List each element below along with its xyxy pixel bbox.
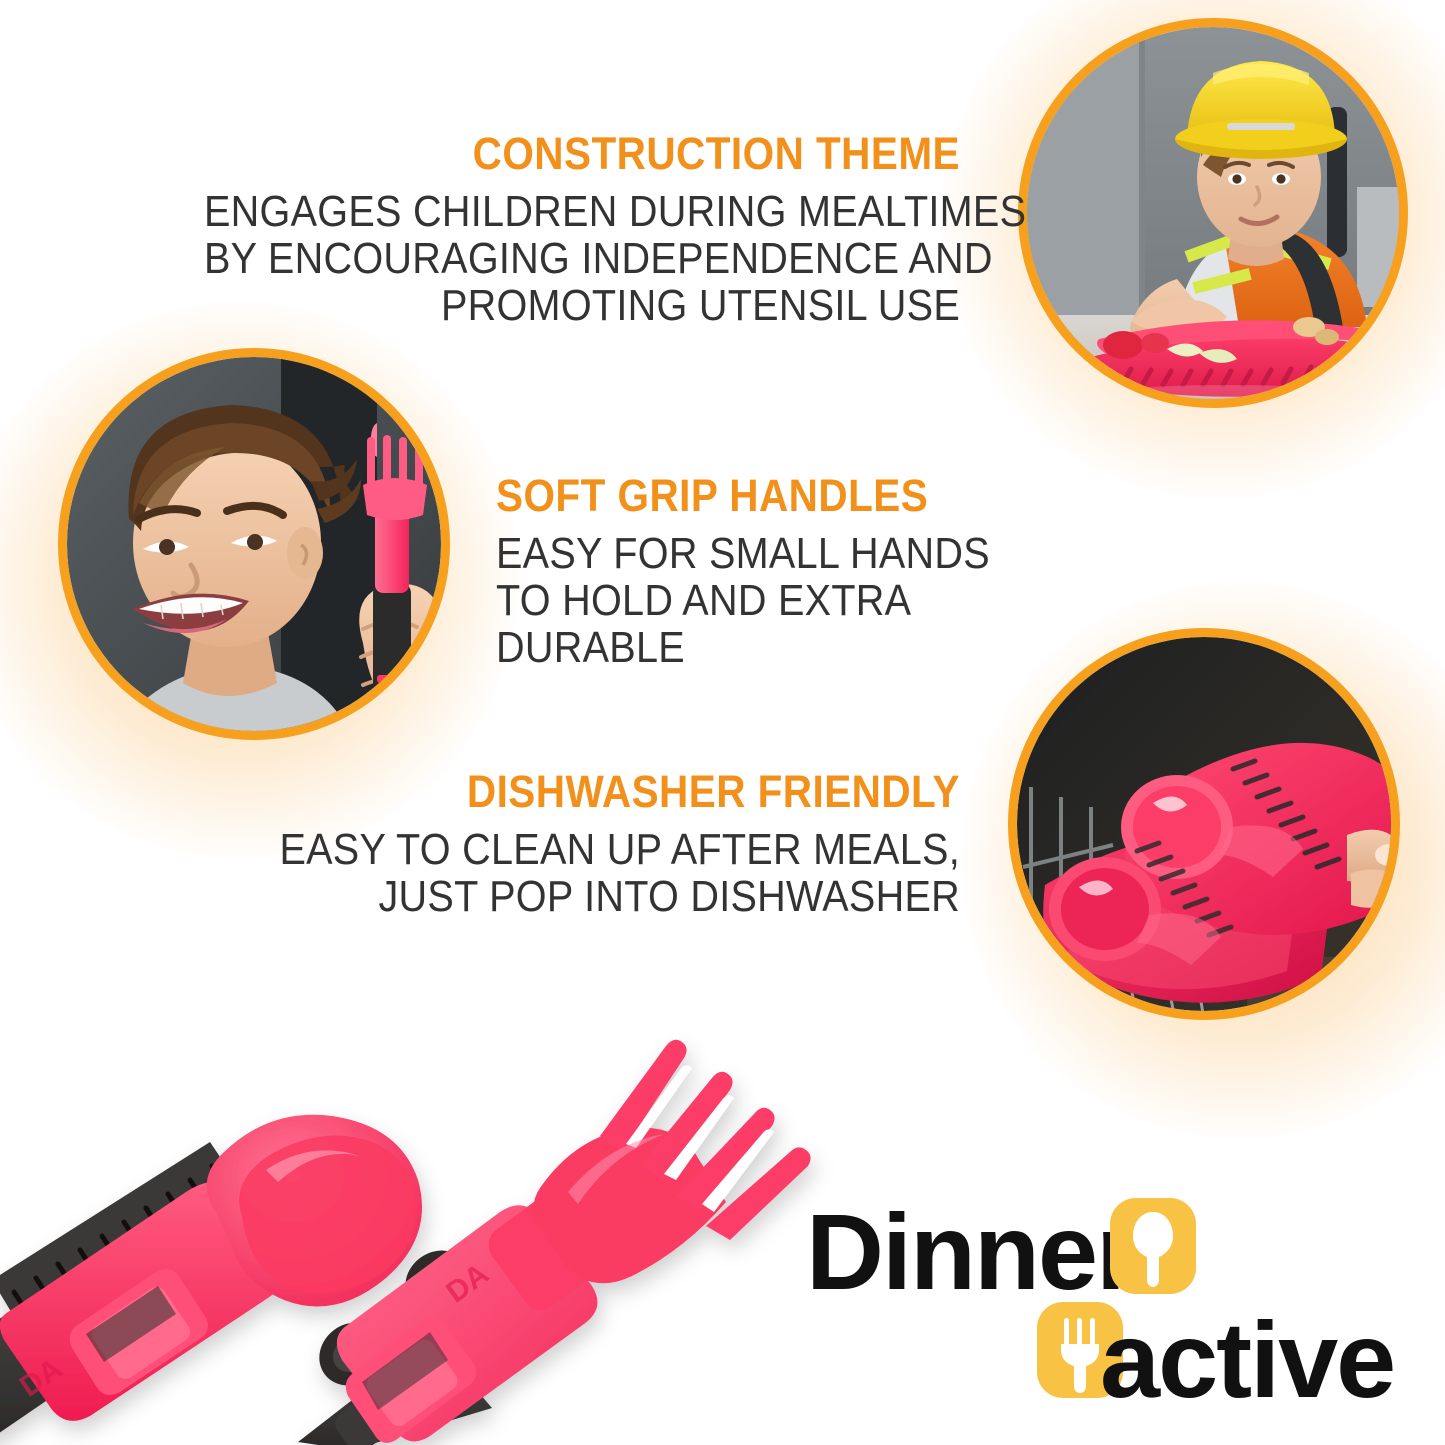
feature-photo-construction-theme <box>1018 18 1408 408</box>
feature-photo-dishwasher-friendly <box>1008 628 1400 1020</box>
feature-text-construction-theme: CONSTRUCTION THEME ENGAGES CHILDREN DURI… <box>120 128 960 329</box>
feature-line-dishwasher-friendly-2: JUST POP INTO DISHWASHER <box>258 873 960 920</box>
feature-line-construction-theme-3: PROMOTING UTENSIL USE <box>204 282 960 329</box>
feature-line-soft-grip-handles-1: EASY FOR SMALL HANDS <box>496 530 964 577</box>
feature-line-construction-theme-2: BY ENCOURAGING INDEPENDENCE AND <box>204 235 960 282</box>
feature-photo-soft-grip-handles <box>58 348 450 740</box>
feature-line-soft-grip-handles-2: TO HOLD AND EXTRA <box>496 577 964 624</box>
feature-heading-soft-grip-handles: SOFT GRIP HANDLES <box>496 470 964 522</box>
photo-construction-theme-image <box>1027 27 1399 399</box>
brand-word-dinner: Dinner <box>806 1198 1136 1306</box>
infographic-canvas: CONSTRUCTION THEME ENGAGES CHILDREN DURI… <box>0 0 1445 1445</box>
feature-text-soft-grip-handles: SOFT GRIP HANDLES EASY FOR SMALL HANDS T… <box>496 470 1016 671</box>
feature-heading-dishwasher-friendly: DISHWASHER FRIENDLY <box>258 766 960 818</box>
photo-dishwasher-friendly-image <box>1017 637 1391 1011</box>
brand-logo: Dinner active <box>800 1190 1400 1405</box>
product-utensils: DA <box>0 930 840 1445</box>
photo-soft-grip-handles-image <box>67 357 441 731</box>
feature-heading-construction-theme: CONSTRUCTION THEME <box>204 128 960 180</box>
spoon-icon <box>1110 1198 1196 1294</box>
feature-text-dishwasher-friendly: DISHWASHER FRIENDLY EASY TO CLEAN UP AFT… <box>180 766 960 920</box>
feature-line-soft-grip-handles-3: DURABLE <box>496 624 964 671</box>
feature-line-dishwasher-friendly-1: EASY TO CLEAN UP AFTER MEALS, <box>258 826 960 873</box>
brand-word-active: active <box>1100 1306 1394 1414</box>
feature-line-construction-theme-1: ENGAGES CHILDREN DURING MEALTIMES <box>204 188 960 235</box>
